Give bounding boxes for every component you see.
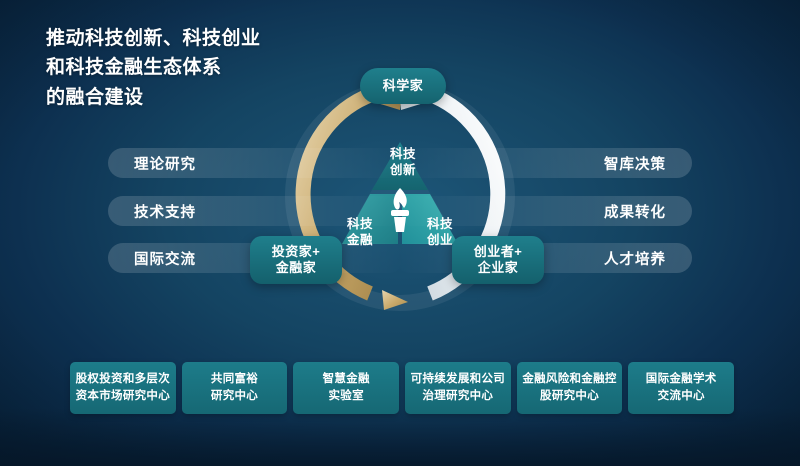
left-label-theory-research: 理论研究 — [108, 148, 404, 178]
triangle-label-finance: 科技 金融 — [337, 216, 383, 249]
card-0-line-1: 股权投资和多层次 — [76, 371, 170, 388]
node-left-line-2: 金融家 — [276, 260, 317, 276]
card-2-line-2: 实验室 — [328, 388, 363, 405]
card-0-line-2: 资本市场研究中心 — [76, 388, 170, 405]
card-smart-finance-lab[interactable]: 智慧金融 实验室 — [293, 362, 399, 414]
node-entrepreneur: 创业者+ 企业家 — [452, 236, 544, 284]
triangle-top-line-1: 科技 — [374, 146, 432, 162]
node-right-line-2: 企业家 — [478, 260, 519, 276]
card-4-line-2: 股研究中心 — [540, 388, 599, 405]
card-2-line-1: 智慧金融 — [323, 371, 370, 388]
left-label-1-text: 技术支持 — [134, 201, 196, 222]
card-financial-risk[interactable]: 金融风险和金融控 股研究中心 — [517, 362, 623, 414]
card-common-prosperity[interactable]: 共同富裕 研究中心 — [182, 362, 288, 414]
right-label-think-tank: 智库决策 — [396, 148, 692, 178]
card-3-line-2: 治理研究中心 — [422, 388, 493, 405]
node-right-line-1: 创业者+ — [474, 244, 523, 260]
card-equity-investment[interactable]: 股权投资和多层次 资本市场研究中心 — [70, 362, 176, 414]
card-1-line-2: 研究中心 — [211, 388, 258, 405]
left-label-2-text: 国际交流 — [134, 248, 196, 269]
triangle-left-line-1: 科技 — [337, 216, 383, 232]
card-3-line-1: 可持续发展和公司 — [411, 371, 505, 388]
title-line-2: 和科技金融生态体系 — [46, 53, 261, 82]
triangle-left-line-2: 金融 — [337, 232, 383, 248]
page-title: 推动科技创新、科技创业 和科技金融生态体系 的融合建设 — [46, 24, 261, 112]
center-cards-row: 股权投资和多层次 资本市场研究中心 共同富裕 研究中心 智慧金融 实验室 可持续… — [70, 362, 734, 414]
right-label-1-text: 成果转化 — [604, 201, 666, 222]
triangle-label-innovation: 科技 创新 — [374, 146, 432, 179]
node-investor-financier: 投资家+ 金融家 — [250, 236, 342, 284]
title-line-3: 的融合建设 — [46, 83, 261, 112]
card-5-line-1: 国际金融学术 — [646, 371, 717, 388]
node-left-line-1: 投资家+ — [272, 244, 321, 260]
left-label-0-text: 理论研究 — [134, 153, 196, 174]
card-1-line-1: 共同富裕 — [211, 371, 258, 388]
infographic-canvas: 推动科技创新、科技创业 和科技金融生态体系 的融合建设 理论研究 技术支持 国际… — [0, 0, 800, 466]
title-line-1: 推动科技创新、科技创业 — [46, 24, 261, 53]
card-sustainable-development[interactable]: 可持续发展和公司 治理研究中心 — [405, 362, 511, 414]
bottom-fade-band — [0, 408, 800, 466]
card-5-line-2: 交流中心 — [658, 388, 705, 405]
card-4-line-1: 金融风险和金融控 — [522, 371, 616, 388]
card-international-exchange[interactable]: 国际金融学术 交流中心 — [628, 362, 734, 414]
node-top-line-1: 科学家 — [383, 78, 424, 94]
triangle-right-line-1: 科技 — [417, 216, 463, 232]
right-label-2-text: 人才培养 — [604, 248, 666, 269]
triangle-top-line-2: 创新 — [374, 162, 432, 178]
right-label-0-text: 智库决策 — [604, 153, 666, 174]
node-scientist: 科学家 — [360, 68, 446, 104]
